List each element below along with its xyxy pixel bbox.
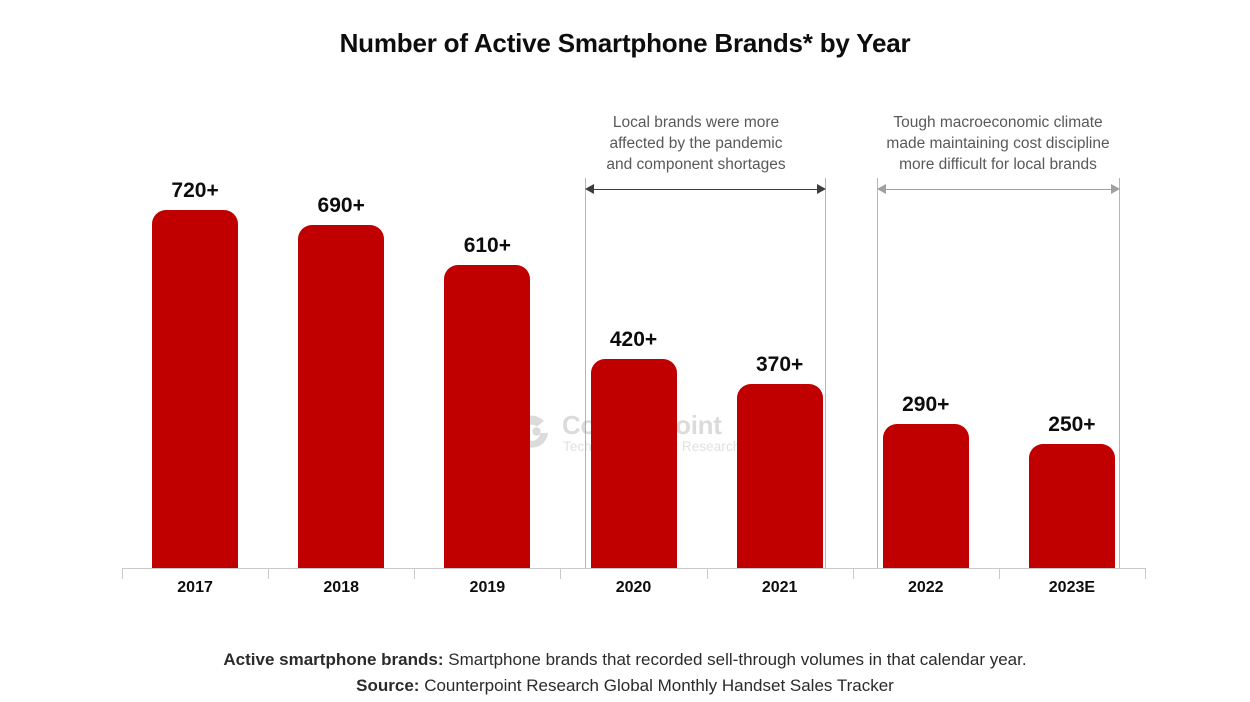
bar-value-label-2023E: 250+ (1002, 413, 1142, 437)
x-axis-tick (414, 568, 415, 579)
x-axis-label-2018: 2018 (271, 579, 411, 597)
annotation-macroeconomic-line3: more difficult for local brands (862, 154, 1134, 175)
bar-value-label-2021: 370+ (710, 353, 850, 377)
x-axis-label-2021: 2021 (710, 579, 850, 597)
annotation-pandemic-line2: affected by the pandemic (570, 133, 822, 154)
x-axis-tick (853, 568, 854, 579)
x-axis-tick (268, 568, 269, 579)
footnote-definition-text: Smartphone brands that recorded sell-thr… (444, 650, 1027, 669)
bar-2021 (737, 384, 823, 568)
x-axis-line (122, 568, 1145, 569)
x-axis-tick (1145, 568, 1146, 579)
bar-2022 (883, 424, 969, 568)
bracket-left-line (877, 178, 878, 568)
arrow-right-head (817, 184, 826, 194)
bracket-arrow (585, 184, 826, 196)
bar-2019 (444, 265, 530, 568)
arrow-shaft (592, 189, 819, 190)
bar-value-label-2018: 690+ (271, 194, 411, 218)
x-axis-label-2022: 2022 (856, 579, 996, 597)
footnote-source-text: Counterpoint Research Global Monthly Han… (419, 676, 893, 695)
bar-value-label-2017: 720+ (125, 179, 265, 203)
annotation-macroeconomic-line1: Tough macroeconomic climate (862, 112, 1134, 133)
annotation-macroeconomic-line2: made maintaining cost discipline (862, 133, 1134, 154)
bar-2023E (1029, 444, 1115, 568)
footnote-definition: Active smartphone brands: Smartphone bra… (0, 650, 1250, 670)
annotation-pandemic-line3: and component shortages (570, 154, 822, 175)
x-axis-label-2017: 2017 (125, 579, 265, 597)
bracket-left-line (585, 178, 586, 568)
arrow-right-head (1111, 184, 1120, 194)
annotation-pandemic-text: Local brands were more affected by the p… (570, 112, 822, 175)
footnote-source-label: Source: (356, 676, 419, 695)
bar-value-label-2020: 420+ (564, 328, 704, 352)
page-title: Number of Active Smartphone Brands* by Y… (0, 28, 1250, 59)
x-axis-tick (707, 568, 708, 579)
x-axis-tick (999, 568, 1000, 579)
x-axis-label-2020: 2020 (564, 579, 704, 597)
bar-value-label-2019: 610+ (417, 234, 557, 258)
bracket-arrow (877, 184, 1120, 196)
annotation-pandemic-line1: Local brands were more (570, 112, 822, 133)
bracket-right-line (1119, 178, 1120, 568)
bar-2018 (298, 225, 384, 568)
bar-2020 (591, 359, 677, 568)
bar-2017 (152, 210, 238, 568)
x-axis-tick (560, 568, 561, 579)
arrow-shaft (884, 189, 1113, 190)
annotation-macroeconomic-text: Tough macroeconomic climate made maintai… (862, 112, 1134, 175)
x-axis-label-2019: 2019 (417, 579, 557, 597)
bar-value-label-2022: 290+ (856, 393, 996, 417)
footnote-definition-label: Active smartphone brands: (223, 650, 443, 669)
x-axis-tick (122, 568, 123, 579)
x-axis-label-2023E: 2023E (1002, 579, 1142, 597)
footnote-source: Source: Counterpoint Research Global Mon… (0, 676, 1250, 696)
